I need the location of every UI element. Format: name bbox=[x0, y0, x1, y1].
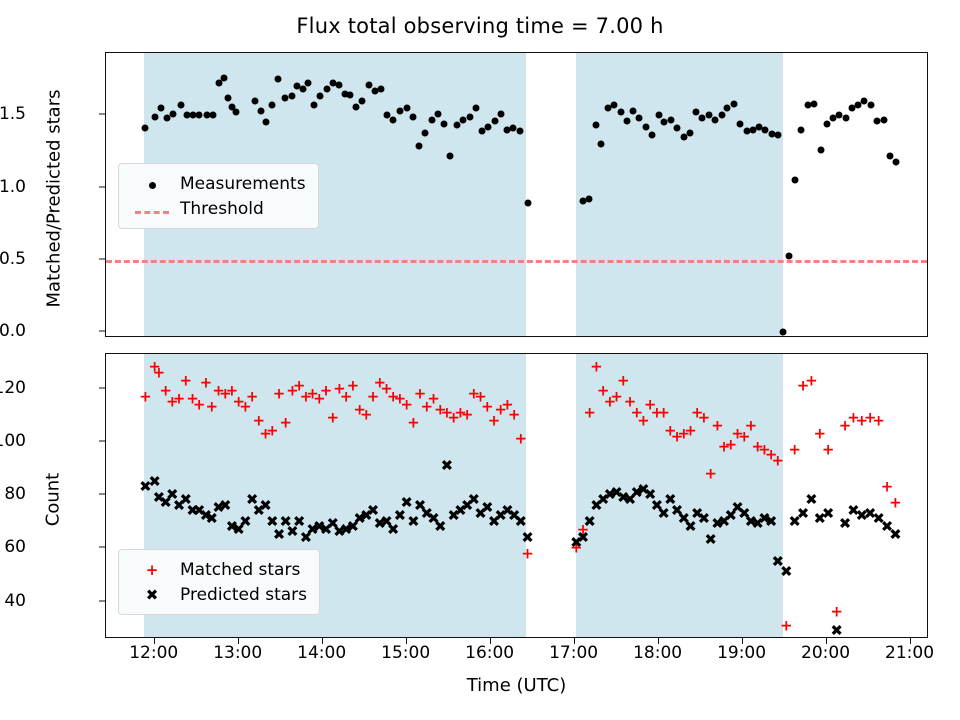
matched-star-point: + bbox=[872, 413, 885, 428]
x-tick-label: 18:00 bbox=[633, 643, 682, 663]
measurement-point bbox=[275, 76, 282, 83]
measurement-point bbox=[724, 104, 731, 111]
measurement-point bbox=[497, 110, 504, 117]
y-tick-mark bbox=[99, 114, 105, 115]
top-y-tick-label: 1.5 bbox=[0, 104, 26, 124]
figure-root: Flux total observing time = 7.00 h Match… bbox=[0, 0, 960, 720]
top-y-tick-label: 0.0 bbox=[0, 321, 26, 341]
measurement-point bbox=[668, 116, 675, 123]
measurement-point bbox=[441, 120, 448, 127]
matched-star-point: + bbox=[698, 410, 711, 425]
matched-star-point: + bbox=[347, 378, 360, 393]
measurement-point bbox=[485, 123, 492, 130]
x-tick-mark bbox=[154, 638, 155, 644]
measurement-point bbox=[177, 102, 184, 109]
matched-star-point: + bbox=[788, 442, 801, 457]
bottom-y-tick-label: 40 bbox=[4, 591, 26, 611]
predicted-star-point: ✖ bbox=[822, 506, 835, 521]
measurement-point bbox=[798, 126, 805, 133]
matched-star-point: + bbox=[407, 416, 420, 431]
x-tick-mark bbox=[910, 638, 911, 644]
y-tick-mark bbox=[99, 331, 105, 332]
measurement-point bbox=[403, 104, 410, 111]
x-tick-label: 20:00 bbox=[801, 643, 850, 663]
dashed-line-icon bbox=[128, 200, 176, 218]
matched-star-point: + bbox=[279, 416, 292, 431]
matched-star-point: + bbox=[780, 618, 793, 633]
measurement-point bbox=[630, 107, 637, 114]
predicted-star-point: ✖ bbox=[259, 498, 272, 513]
predicted-star-point: ✖ bbox=[400, 496, 413, 511]
y-tick-mark bbox=[99, 186, 105, 187]
measurement-point bbox=[636, 115, 643, 122]
measurement-point bbox=[886, 152, 893, 159]
matched-star-point: + bbox=[657, 405, 670, 420]
bottom-panel-ylabel: Count bbox=[43, 440, 64, 560]
measurement-point bbox=[422, 129, 429, 136]
predicted-star-point: ✖ bbox=[521, 530, 534, 545]
measurement-point bbox=[220, 74, 227, 81]
matched-star-point: + bbox=[814, 426, 827, 441]
measurement-point bbox=[224, 94, 231, 101]
matched-star-point: + bbox=[179, 373, 192, 388]
measurement-point bbox=[517, 128, 524, 135]
matched-star-point: + bbox=[266, 424, 279, 439]
matched-star-point: + bbox=[684, 424, 697, 439]
legend-label-matched-stars: Matched stars bbox=[176, 560, 300, 580]
measurement-point bbox=[774, 132, 781, 139]
predicted-star-point: ✖ bbox=[434, 520, 447, 535]
y-tick-mark bbox=[99, 440, 105, 441]
legend-label-predicted-stars: Predicted stars bbox=[176, 585, 307, 605]
legend-item-threshold: Threshold bbox=[128, 196, 306, 221]
top-y-tick-label: 0.5 bbox=[0, 249, 26, 269]
predicted-star-point: ✖ bbox=[515, 514, 528, 529]
predicted-star-point: ✖ bbox=[830, 624, 843, 639]
x-tick-mark bbox=[322, 638, 323, 644]
measurement-point bbox=[416, 142, 423, 149]
x-tick-mark bbox=[238, 638, 239, 644]
measurement-point bbox=[359, 97, 366, 104]
matched-star-point: + bbox=[637, 413, 650, 428]
x-tick-label: 19:00 bbox=[717, 643, 766, 663]
y-tick-mark bbox=[99, 258, 105, 259]
x-tick-mark bbox=[406, 638, 407, 644]
matched-star-point: + bbox=[515, 432, 528, 447]
measurement-point bbox=[269, 102, 276, 109]
y-tick-mark bbox=[99, 547, 105, 548]
measurement-point bbox=[428, 116, 435, 123]
x-tick-mark bbox=[574, 638, 575, 644]
measurement-point bbox=[491, 117, 498, 124]
matched-star-point: + bbox=[273, 386, 286, 401]
measurement-point bbox=[737, 120, 744, 127]
measurement-point bbox=[686, 129, 693, 136]
measurement-point bbox=[868, 102, 875, 109]
predicted-star-point: ✖ bbox=[219, 498, 232, 513]
x-tick-mark bbox=[742, 638, 743, 644]
measurement-point bbox=[674, 125, 681, 132]
predicted-star-point: ✖ bbox=[889, 528, 902, 543]
x-tick-mark bbox=[490, 638, 491, 644]
matched-star-point: + bbox=[153, 365, 166, 380]
measurement-point bbox=[170, 110, 177, 117]
measurement-point bbox=[817, 146, 824, 153]
measurement-point bbox=[611, 102, 618, 109]
dot-marker-icon bbox=[128, 175, 176, 193]
measurement-point bbox=[233, 109, 240, 116]
measurement-point bbox=[880, 116, 887, 123]
measurement-point bbox=[300, 86, 307, 93]
measurement-point bbox=[893, 158, 900, 165]
measurement-point bbox=[323, 86, 330, 93]
bottom-y-tick-label: 120 bbox=[0, 378, 26, 398]
figure-title: Flux total observing time = 7.00 h bbox=[0, 14, 960, 38]
measurement-point bbox=[434, 110, 441, 117]
matched-star-point: + bbox=[360, 408, 373, 423]
measurement-point bbox=[409, 113, 416, 120]
bottom-y-tick-label: 60 bbox=[4, 537, 26, 557]
measurement-point bbox=[390, 116, 397, 123]
measurement-point bbox=[317, 93, 324, 100]
x-tick-label: 12:00 bbox=[129, 643, 178, 663]
matched-star-point: + bbox=[521, 546, 534, 561]
x-tick-mark bbox=[826, 638, 827, 644]
matched-star-point: + bbox=[772, 453, 785, 468]
legend-item-matched-stars: + Matched stars bbox=[128, 557, 307, 582]
measurement-point bbox=[263, 119, 270, 126]
predicted-star-point: ✖ bbox=[583, 514, 596, 529]
measurement-point bbox=[454, 122, 461, 129]
matched-star-point: + bbox=[400, 397, 413, 412]
measurement-point bbox=[196, 112, 203, 119]
predicted-star-point: ✖ bbox=[148, 474, 161, 489]
measurement-point bbox=[842, 115, 849, 122]
y-tick-mark bbox=[99, 494, 105, 495]
matched-star-point: + bbox=[206, 400, 219, 415]
legend-item-predicted-stars: ✖ Predicted stars bbox=[128, 582, 307, 607]
measurement-point bbox=[623, 117, 630, 124]
predicted-star-point: ✖ bbox=[293, 514, 306, 529]
x-tick-label: 16:00 bbox=[465, 643, 514, 663]
cross-marker-icon: ✖ bbox=[128, 586, 176, 604]
legend-label-measurements: Measurements bbox=[176, 174, 306, 194]
measurement-point bbox=[466, 113, 473, 120]
matched-star-point: + bbox=[173, 392, 186, 407]
y-tick-mark bbox=[99, 387, 105, 388]
matched-star-point: + bbox=[200, 376, 213, 391]
measurement-point bbox=[598, 141, 605, 148]
top-panel-legend: Measurements Threshold bbox=[118, 163, 319, 229]
predicted-star-point: ✖ bbox=[704, 533, 717, 548]
measurement-point bbox=[731, 100, 738, 107]
measurement-point bbox=[592, 122, 599, 129]
predicted-star-point: ✖ bbox=[765, 514, 778, 529]
measurement-point bbox=[648, 132, 655, 139]
matched-star-point: + bbox=[590, 360, 603, 375]
measurement-point bbox=[258, 107, 265, 114]
measurement-point bbox=[642, 123, 649, 130]
legend-item-measurements: Measurements bbox=[128, 171, 306, 196]
measurement-point bbox=[158, 104, 165, 111]
x-tick-label: 21:00 bbox=[885, 643, 934, 663]
predicted-star-point: ✖ bbox=[805, 493, 818, 508]
matched-star-point: + bbox=[246, 389, 259, 404]
measurement-point bbox=[792, 177, 799, 184]
measurement-point bbox=[810, 100, 817, 107]
measurement-point bbox=[779, 329, 786, 336]
measurement-point bbox=[718, 112, 725, 119]
measurement-point bbox=[151, 113, 158, 120]
matched-star-point: + bbox=[745, 418, 758, 433]
x-tick-label: 15:00 bbox=[381, 643, 430, 663]
matched-star-point: + bbox=[881, 480, 894, 495]
predicted-star-point: ✖ bbox=[698, 512, 711, 527]
x-tick-label: 14:00 bbox=[297, 643, 346, 663]
measurement-point bbox=[288, 93, 295, 100]
x-tick-label: 17:00 bbox=[549, 643, 598, 663]
matched-star-point: + bbox=[610, 389, 623, 404]
matched-star-point: + bbox=[822, 442, 835, 457]
matched-star-point: + bbox=[889, 496, 902, 511]
matched-star-point: + bbox=[320, 384, 333, 399]
measurement-point bbox=[252, 97, 259, 104]
matched-star-point: + bbox=[830, 605, 843, 620]
bottom-panel-legend: + Matched stars ✖ Predicted stars bbox=[118, 549, 320, 615]
measurement-point bbox=[305, 80, 312, 87]
x-tick-label: 13:00 bbox=[213, 643, 262, 663]
measurement-point bbox=[142, 125, 149, 132]
measurement-point bbox=[353, 103, 360, 110]
predicted-star-point: ✖ bbox=[239, 514, 252, 529]
legend-label-threshold: Threshold bbox=[176, 199, 264, 219]
measurement-point bbox=[336, 81, 343, 88]
predicted-star-point: ✖ bbox=[577, 530, 590, 545]
plus-marker-icon: + bbox=[128, 561, 176, 579]
matched-star-point: + bbox=[193, 397, 206, 412]
top-panel-ylabel: Matched/Predicted stars bbox=[44, 59, 65, 339]
measurement-point bbox=[655, 112, 662, 119]
matched-star-point: + bbox=[461, 408, 474, 423]
matched-star-point: + bbox=[583, 405, 596, 420]
measurement-point bbox=[210, 112, 217, 119]
measurement-point bbox=[525, 200, 532, 207]
matched-star-point: + bbox=[805, 373, 818, 388]
y-tick-mark bbox=[99, 600, 105, 601]
predicted-star-point: ✖ bbox=[407, 514, 420, 529]
bottom-y-tick-label: 80 bbox=[4, 484, 26, 504]
matched-star-point: + bbox=[704, 466, 717, 481]
shaded-observing-band bbox=[576, 53, 783, 336]
measurement-point bbox=[378, 86, 385, 93]
measurement-point bbox=[447, 152, 454, 159]
bottom-y-tick-label: 100 bbox=[0, 431, 26, 451]
x-tick-mark bbox=[658, 638, 659, 644]
predicted-star-point: ✖ bbox=[441, 458, 454, 473]
measurement-point bbox=[711, 116, 718, 123]
threshold-line bbox=[106, 260, 927, 263]
measurement-point bbox=[311, 102, 318, 109]
top-y-tick-label: 1.0 bbox=[0, 177, 26, 197]
measurement-point bbox=[585, 196, 592, 203]
matched-star-point: + bbox=[139, 389, 152, 404]
matched-star-point: + bbox=[326, 410, 339, 425]
predicted-star-point: ✖ bbox=[780, 565, 793, 580]
measurement-point bbox=[472, 104, 479, 111]
measurement-point bbox=[823, 120, 830, 127]
matched-star-point: + bbox=[711, 418, 724, 433]
matched-star-point: + bbox=[617, 373, 630, 388]
measurement-point bbox=[785, 252, 792, 259]
xaxis-label: Time (UTC) bbox=[105, 675, 928, 696]
measurement-point bbox=[617, 109, 624, 116]
matched-star-point: + bbox=[508, 408, 521, 423]
measurement-point bbox=[347, 91, 354, 98]
